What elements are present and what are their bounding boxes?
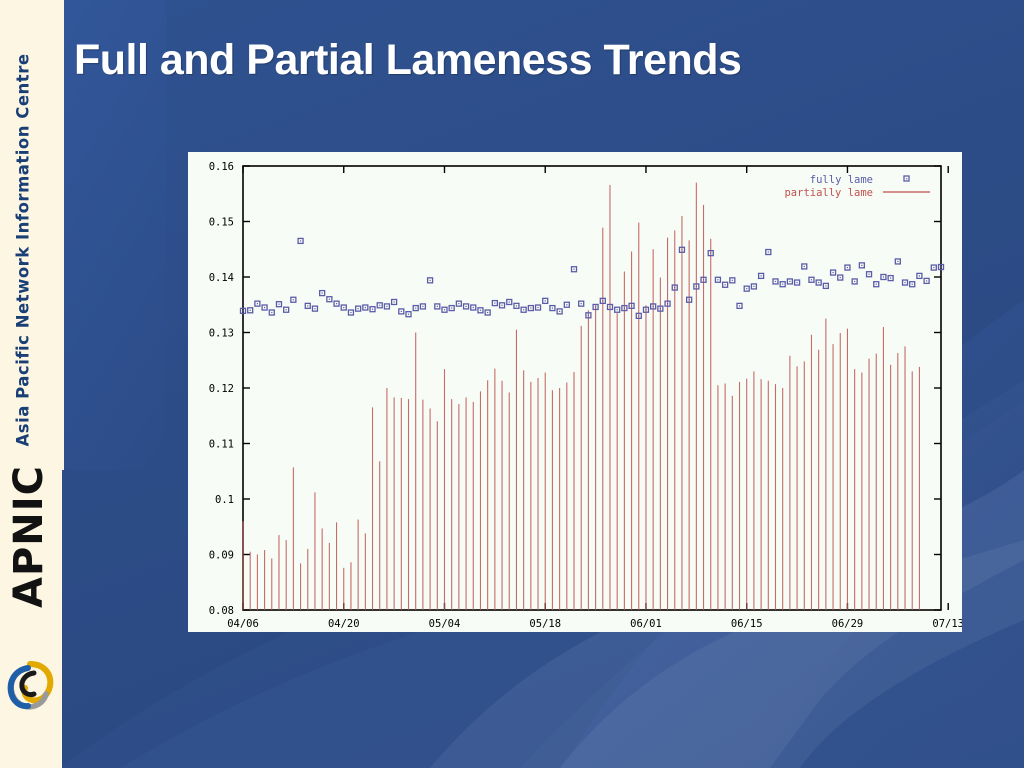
- data-point-center: [739, 305, 740, 306]
- data-point-center: [278, 304, 279, 305]
- data-point-center: [703, 279, 704, 280]
- data-point-center: [480, 310, 481, 311]
- y-tick-label: 0.12: [209, 383, 234, 395]
- data-point-center: [602, 300, 603, 301]
- legend-marker-center: [906, 178, 907, 179]
- data-point-center: [250, 310, 251, 311]
- data-point-center: [746, 288, 747, 289]
- data-point-center: [832, 272, 833, 273]
- slide-canvas: Asia Pacific Network Information Centre …: [0, 0, 1024, 768]
- data-point-center: [451, 307, 452, 308]
- x-tick-label: 06/01: [630, 618, 662, 630]
- y-tick-label: 0.08: [209, 605, 234, 617]
- data-point-center: [509, 301, 510, 302]
- data-point-center: [674, 287, 675, 288]
- data-point-center: [876, 284, 877, 285]
- data-point-center: [926, 280, 927, 281]
- data-point-center: [933, 267, 934, 268]
- data-point-center: [710, 253, 711, 254]
- legend-label-fully-lame: fully lame: [810, 174, 873, 186]
- x-tick-label: 05/04: [429, 618, 461, 630]
- data-point-center: [868, 274, 869, 275]
- data-point-center: [840, 277, 841, 278]
- x-tick-label: 06/29: [832, 618, 864, 630]
- data-point-center: [588, 315, 589, 316]
- data-point-center: [660, 308, 661, 309]
- data-point-center: [530, 307, 531, 308]
- data-point-center: [465, 306, 466, 307]
- y-tick-label: 0.1: [215, 494, 234, 506]
- data-point-center: [559, 311, 560, 312]
- data-point-center: [473, 307, 474, 308]
- sidebar-edge: [46, 0, 64, 470]
- data-point-center: [789, 281, 790, 282]
- data-point-center: [386, 306, 387, 307]
- data-point-center: [861, 265, 862, 266]
- data-point-center: [667, 303, 668, 304]
- data-point-center: [631, 305, 632, 306]
- data-point-center: [645, 309, 646, 310]
- data-point-center: [394, 301, 395, 302]
- x-tick-label: 05/18: [529, 618, 561, 630]
- data-point-center: [350, 312, 351, 313]
- y-tick-label: 0.15: [209, 217, 234, 229]
- organisation-name: Asia Pacific Network Information Centre: [14, 7, 33, 447]
- data-point-center: [609, 306, 610, 307]
- data-point-center: [825, 285, 826, 286]
- data-point-center: [768, 251, 769, 252]
- brand-wordmark: APNIC: [6, 478, 52, 608]
- data-point-center: [811, 279, 812, 280]
- data-point-center: [904, 282, 905, 283]
- data-point-center: [847, 267, 848, 268]
- data-point-center: [257, 303, 258, 304]
- data-point-center: [689, 299, 690, 300]
- x-tick-label: 06/15: [731, 618, 763, 630]
- data-point-center: [523, 309, 524, 310]
- data-point-center: [854, 281, 855, 282]
- data-point-center: [516, 305, 517, 306]
- data-point-center: [732, 280, 733, 281]
- data-point-center: [372, 309, 373, 310]
- data-point-center: [314, 308, 315, 309]
- data-point-center: [494, 302, 495, 303]
- x-tick-label: 07/13: [932, 618, 962, 630]
- data-point-center: [444, 309, 445, 310]
- y-tick-label: 0.11: [209, 439, 234, 451]
- data-point-center: [717, 279, 718, 280]
- data-point-center: [408, 314, 409, 315]
- data-point-center: [818, 282, 819, 283]
- data-point-center: [365, 307, 366, 308]
- data-point-center: [681, 249, 682, 250]
- data-point-center: [796, 282, 797, 283]
- chart-panel: 0.080.090.10.110.120.130.140.150.1604/06…: [188, 152, 962, 632]
- data-point-center: [782, 284, 783, 285]
- data-point-center: [329, 299, 330, 300]
- data-point-center: [307, 305, 308, 306]
- data-point-center: [293, 299, 294, 300]
- legend-label-partially-lame: partially lame: [784, 187, 873, 199]
- data-point-center: [753, 286, 754, 287]
- x-tick-label: 04/06: [227, 618, 259, 630]
- data-point-center: [617, 309, 618, 310]
- data-point-center: [415, 307, 416, 308]
- data-point-center: [264, 307, 265, 308]
- data-point-center: [804, 266, 805, 267]
- data-point-center: [537, 307, 538, 308]
- data-point-center: [422, 306, 423, 307]
- data-point-center: [271, 312, 272, 313]
- data-point-center: [775, 281, 776, 282]
- data-point-center: [566, 304, 567, 305]
- data-point-center: [487, 312, 488, 313]
- data-point-center: [573, 269, 574, 270]
- data-point-center: [638, 315, 639, 316]
- data-point-center: [552, 307, 553, 308]
- y-tick-label: 0.13: [209, 328, 234, 340]
- data-point-center: [897, 261, 898, 262]
- data-point-center: [940, 266, 941, 267]
- x-tick-label: 04/20: [328, 618, 360, 630]
- y-tick-label: 0.09: [209, 550, 234, 562]
- data-point-center: [343, 307, 344, 308]
- data-point-center: [379, 305, 380, 306]
- data-point-center: [696, 286, 697, 287]
- data-point-center: [653, 306, 654, 307]
- data-point-center: [429, 280, 430, 281]
- apnic-swirl-logo: [4, 660, 56, 712]
- data-point-center: [336, 303, 337, 304]
- data-point-center: [883, 276, 884, 277]
- y-tick-label: 0.16: [209, 161, 234, 173]
- lameness-trend-chart: 0.080.090.10.110.120.130.140.150.1604/06…: [188, 152, 962, 632]
- data-point-center: [725, 284, 726, 285]
- data-point-center: [401, 311, 402, 312]
- data-point-center: [358, 308, 359, 309]
- data-point-center: [286, 309, 287, 310]
- data-point-center: [912, 284, 913, 285]
- data-point-center: [322, 292, 323, 293]
- data-point-center: [624, 307, 625, 308]
- data-point-center: [595, 306, 596, 307]
- data-point-center: [761, 275, 762, 276]
- data-point-center: [890, 278, 891, 279]
- data-point-center: [581, 303, 582, 304]
- data-point-center: [458, 303, 459, 304]
- data-point-center: [437, 306, 438, 307]
- data-point-center: [919, 275, 920, 276]
- page-title: Full and Partial Lameness Trends: [74, 36, 741, 85]
- y-tick-label: 0.14: [209, 272, 234, 284]
- data-point-center: [545, 300, 546, 301]
- data-point-center: [300, 240, 301, 241]
- data-point-center: [242, 310, 243, 311]
- data-point-center: [501, 305, 502, 306]
